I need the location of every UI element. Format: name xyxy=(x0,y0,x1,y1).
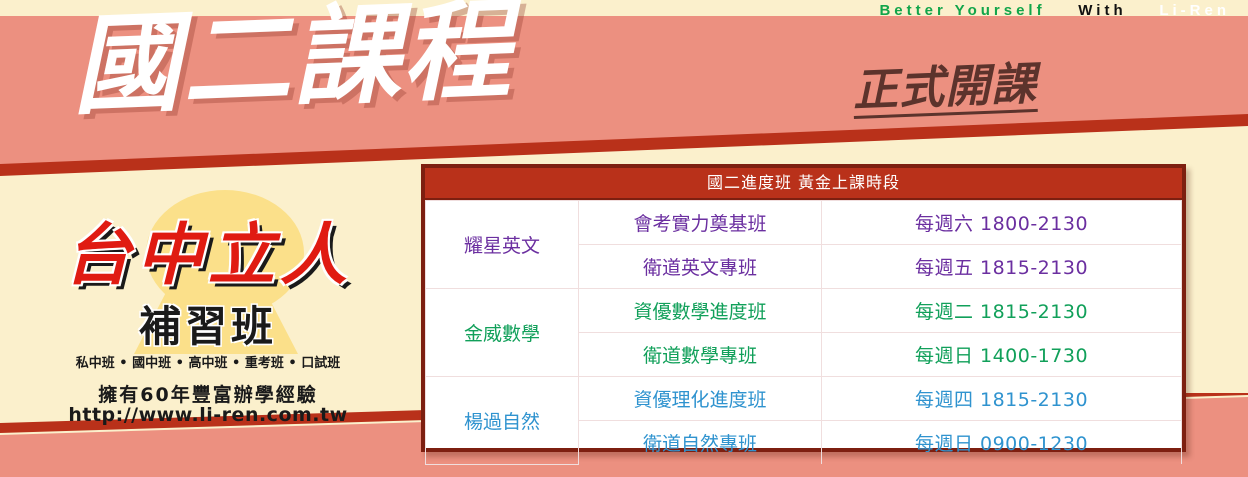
time-cell: 每週五 1815-2130 xyxy=(822,245,1182,289)
course-cell: 衛道英文專班 xyxy=(579,245,822,289)
tagline-part-3: Li-Ren xyxy=(1159,2,1230,19)
logo-school-name: 台中立人 xyxy=(18,222,398,289)
table-row: 耀星英文會考實力奠基班每週六 1800-2130 xyxy=(426,201,1182,245)
course-cell: 資優理化進度班 xyxy=(579,377,822,421)
logo-school-type: 補習班 xyxy=(18,306,398,348)
course-cell: 衛道自然專班 xyxy=(579,421,822,465)
time-cell: 每週四 1815-2130 xyxy=(822,377,1182,421)
school-logo: 台中立人 補習班 私中班 • 國中班 • 高中班 • 重考班 • 口試班 擁有6… xyxy=(18,196,398,426)
logo-class-list: 私中班 • 國中班 • 高中班 • 重考班 • 口試班 xyxy=(18,352,398,371)
course-cell: 衛道數學專班 xyxy=(579,333,822,377)
table-row: 楊過自然資優理化進度班每週四 1815-2130 xyxy=(426,377,1182,421)
time-cell: 每週六 1800-2130 xyxy=(822,201,1182,245)
schedule-title: 國二進度班 黃金上課時段 xyxy=(425,168,1182,200)
sub-headline: 正式開課 xyxy=(852,61,1038,119)
logo-website-url: http://www.li-ren.com.tw xyxy=(18,404,398,426)
table-row: 金威數學資優數學進度班每週二 1815-2130 xyxy=(426,289,1182,333)
tagline-part-2: With xyxy=(1078,2,1126,19)
promo-banner: Better Yourself With Li-Ren 國二課程 正式開課 台中… xyxy=(0,0,1248,477)
course-cell: 資優數學進度班 xyxy=(579,289,822,333)
course-cell: 會考實力奠基班 xyxy=(579,201,822,245)
time-cell: 每週二 1815-2130 xyxy=(822,289,1182,333)
schedule-table-body: 耀星英文會考實力奠基班每週六 1800-2130衛道英文專班每週五 1815-2… xyxy=(426,201,1182,465)
time-cell: 每週日 1400-1730 xyxy=(822,333,1182,377)
main-headline: 國二課程 xyxy=(70,0,514,122)
subject-cell: 楊過自然 xyxy=(426,377,579,465)
time-cell: 每週日 0900-1230 xyxy=(822,421,1182,465)
subject-cell: 金威數學 xyxy=(426,289,579,377)
schedule-card: 國二進度班 黃金上課時段 耀星英文會考實力奠基班每週六 1800-2130衛道英… xyxy=(421,164,1186,452)
subject-cell: 耀星英文 xyxy=(426,201,579,289)
logo-experience: 擁有60年豐富辦學經驗 xyxy=(18,380,398,407)
tagline-part-1: Better Yourself xyxy=(879,2,1045,19)
schedule-table: 耀星英文會考實力奠基班每週六 1800-2130衛道英文專班每週五 1815-2… xyxy=(425,200,1182,465)
